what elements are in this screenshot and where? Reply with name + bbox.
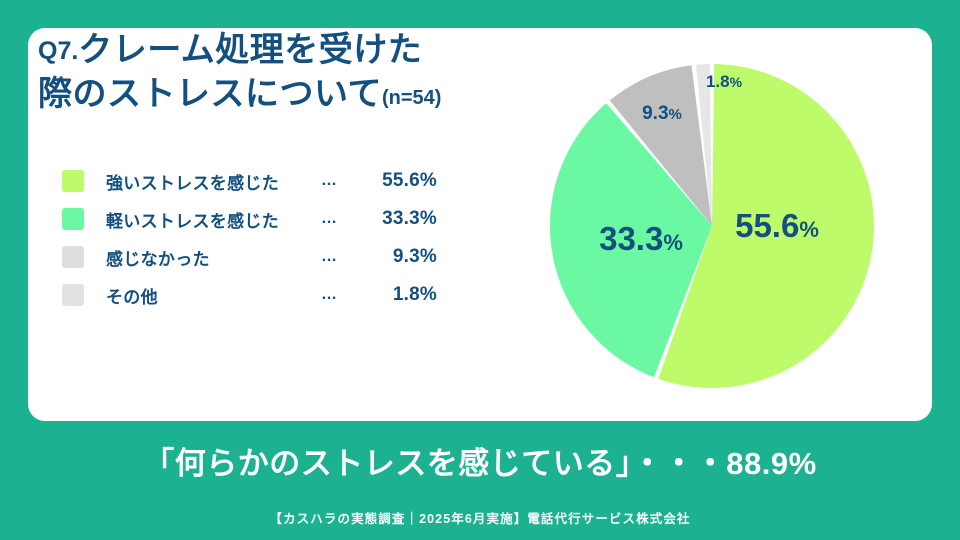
summary-statement: 「何らかのストレスを感じている」・・・88.9%: [0, 438, 960, 483]
legend-item[interactable]: 感じなかった … 9.3%: [62, 238, 492, 276]
legend-item-label: その他: [106, 283, 321, 308]
legend-item-value: 1.8%: [365, 284, 437, 306]
title-line-1: Q7.クレーム処理を受けた: [38, 28, 508, 72]
legend-item-value: 9.3%: [365, 246, 437, 268]
footer-credit: 【カスハラの実態調査｜2025年6月実施】電話代行サービス株式会社: [0, 508, 960, 527]
legend-separator: …: [321, 286, 365, 304]
legend-item-label: 強いストレスを感じた: [106, 169, 321, 194]
title-text-1: クレーム処理を受けた: [78, 31, 422, 69]
legend-separator: …: [321, 172, 365, 190]
title-text-2: 際のストレスについて: [38, 75, 382, 113]
legend-swatch-icon: [62, 170, 84, 192]
question-number: Q7.: [38, 37, 78, 65]
page-title: Q7.クレーム処理を受けた 際のストレスについて(n=54): [38, 28, 508, 116]
legend-swatch-icon: [62, 246, 84, 268]
legend-item[interactable]: その他 … 1.8%: [62, 276, 492, 314]
legend-item[interactable]: 強いストレスを感じた … 55.6%: [62, 162, 492, 200]
legend-item-value: 55.6%: [365, 170, 437, 192]
pie-chart-svg: 55.6% 33.3% 9.3% 1.8%: [528, 42, 896, 410]
legend-swatch-icon: [62, 208, 84, 230]
slide: Q7.クレーム処理を受けた 際のストレスについて(n=54) 強いストレスを感じ…: [0, 0, 960, 540]
legend: 強いストレスを感じた … 55.6% 軽いストレスを感じた … 33.3% 感じ…: [62, 162, 492, 314]
legend-swatch-icon: [62, 284, 84, 306]
pie-label-no-stress: 9.3%: [642, 103, 682, 124]
legend-item-label: 軽いストレスを感じた: [106, 207, 321, 232]
legend-item-value: 33.3%: [365, 208, 437, 230]
legend-item-label: 感じなかった: [106, 245, 321, 270]
pie-chart: 55.6% 33.3% 9.3% 1.8%: [528, 42, 896, 410]
legend-separator: …: [321, 248, 365, 266]
legend-separator: …: [321, 210, 365, 228]
pie-label-other: 1.8%: [706, 72, 743, 91]
legend-item[interactable]: 軽いストレスを感じた … 33.3%: [62, 200, 492, 238]
sample-size-note: (n=54): [382, 87, 441, 109]
title-line-2: 際のストレスについて(n=54): [38, 72, 508, 116]
